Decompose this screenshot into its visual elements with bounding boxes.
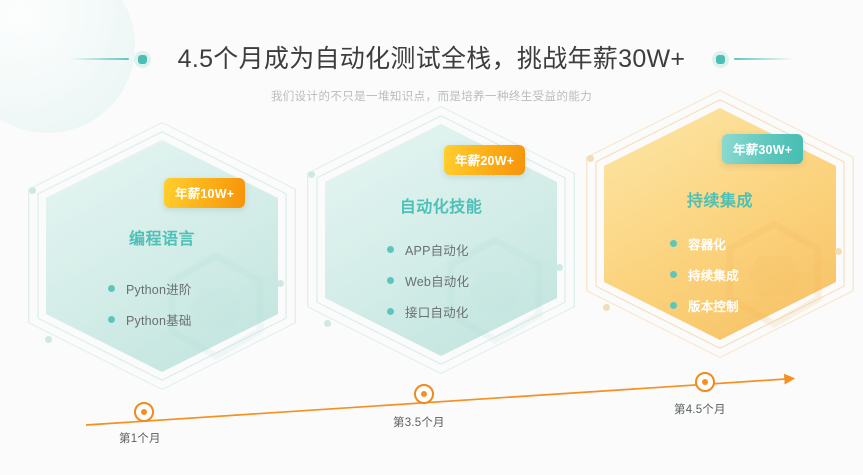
bullet-dot-icon xyxy=(387,277,394,284)
hexagon-card-item[interactable]: APP自动化 xyxy=(325,234,557,265)
hexagon-card-title: 自动化技能 xyxy=(325,193,557,217)
hexagon-card[interactable]: 自动化技能APP自动化Web自动化接口自动化年薪20W+ xyxy=(325,124,557,356)
hexagon-card-item[interactable]: Python进阶 xyxy=(46,273,278,304)
hexagon-card-item-list: 容器化持续集成版本控制 xyxy=(604,228,836,321)
hex-vertex-dot-icon xyxy=(308,171,315,178)
hexagon-card-item-list: Python进阶Python基础 xyxy=(46,273,278,335)
hexagon-card-item[interactable]: Web自动化 xyxy=(325,265,557,296)
bullet-dot-icon xyxy=(108,316,115,323)
bullet-dot-icon xyxy=(387,308,394,315)
hexagon-card-item-label: 版本控制 xyxy=(688,296,739,315)
bullet-dot-icon xyxy=(670,271,677,278)
hexagon-card-title: 编程语言 xyxy=(46,225,278,249)
hexagon-card[interactable]: 持续集成容器化持续集成版本控制年薪30W+ xyxy=(604,108,836,340)
salary-badge[interactable]: 年薪30W+ xyxy=(722,134,803,164)
hexagon-card-item-label: Python基础 xyxy=(126,310,192,329)
salary-badge[interactable]: 年薪10W+ xyxy=(164,178,245,208)
bullet-dot-icon xyxy=(670,302,677,309)
hex-vertex-dot-icon xyxy=(556,264,563,271)
hexagon-card-item-label: Web自动化 xyxy=(405,271,469,290)
hexagon-card-item[interactable]: 接口自动化 xyxy=(325,296,557,327)
hexagon-card-item-label: 持续集成 xyxy=(688,265,739,284)
hexagon-card[interactable]: 编程语言Python进阶Python基础年薪10W+ xyxy=(46,140,278,372)
hexagon-card-item-label: 容器化 xyxy=(688,234,726,253)
hexagon-card-item[interactable]: Python基础 xyxy=(46,304,278,335)
hexagon-card-body: 编程语言Python进阶Python基础 xyxy=(46,140,278,372)
hexagon-card-item[interactable]: 版本控制 xyxy=(604,290,836,321)
salary-badge[interactable]: 年薪20W+ xyxy=(444,145,525,175)
hex-vertex-dot-icon xyxy=(835,248,842,255)
hexagon-card-item-label: APP自动化 xyxy=(405,240,469,259)
hex-vertex-dot-icon xyxy=(277,280,284,287)
hexagon-card-item-label: 接口自动化 xyxy=(405,302,469,321)
bullet-dot-icon xyxy=(108,285,115,292)
page-root: 4.5个月成为自动化测试全栈，挑战年薪30W+ 我们设计的不只是一堆知识点，而是… xyxy=(0,0,863,475)
hexagon-card-item-list: APP自动化Web自动化接口自动化 xyxy=(325,234,557,327)
hexagon-card-item[interactable]: 持续集成 xyxy=(604,259,836,290)
hex-vertex-dot-icon xyxy=(29,187,36,194)
bullet-dot-icon xyxy=(387,246,394,253)
bullet-dot-icon xyxy=(670,240,677,247)
hexagon-card-title: 持续集成 xyxy=(604,187,836,211)
hexagon-card-item[interactable]: 容器化 xyxy=(604,228,836,259)
hexagon-card-list: 编程语言Python进阶Python基础年薪10W+自动化技能APP自动化Web… xyxy=(0,0,863,475)
hex-vertex-dot-icon xyxy=(587,155,594,162)
hexagon-card-item-label: Python进阶 xyxy=(126,279,192,298)
